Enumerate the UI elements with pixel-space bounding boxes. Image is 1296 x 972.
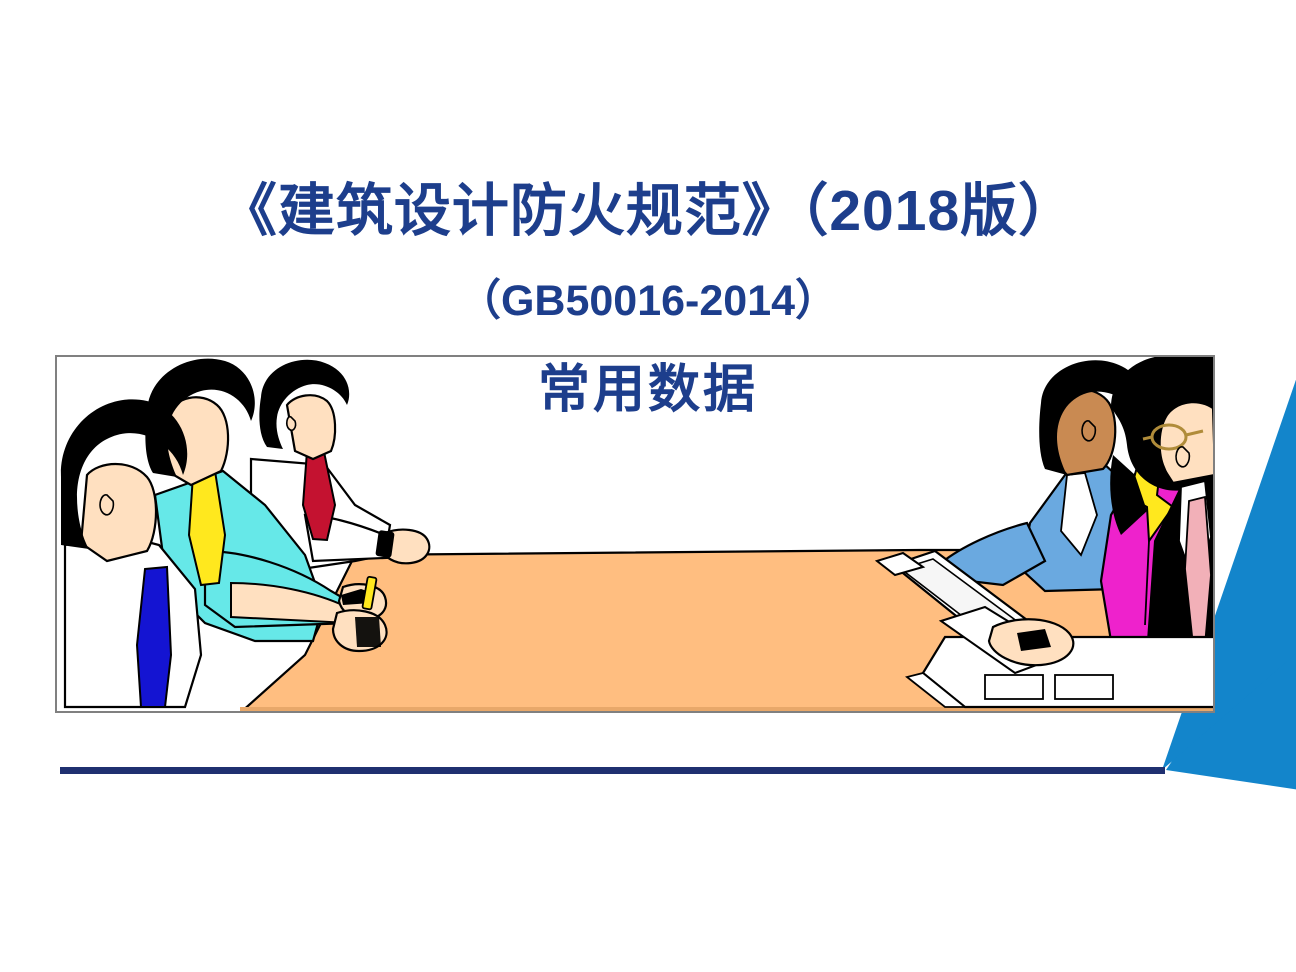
slide-title-block: 《建筑设计防火规范》（2018版） （GB50016-2014） 常用数据 (0, 180, 1296, 422)
title-subtitle: 常用数据 (0, 359, 1296, 421)
slide-canvas: 《建筑设计防火规范》（2018版） （GB50016-2014） 常用数据 (0, 0, 1296, 972)
title-standard-code: （GB50016-2014） (0, 276, 1296, 328)
bottom-divider-rule (60, 767, 1165, 774)
page-title: 《建筑设计防火规范》（2018版） (0, 180, 1296, 244)
